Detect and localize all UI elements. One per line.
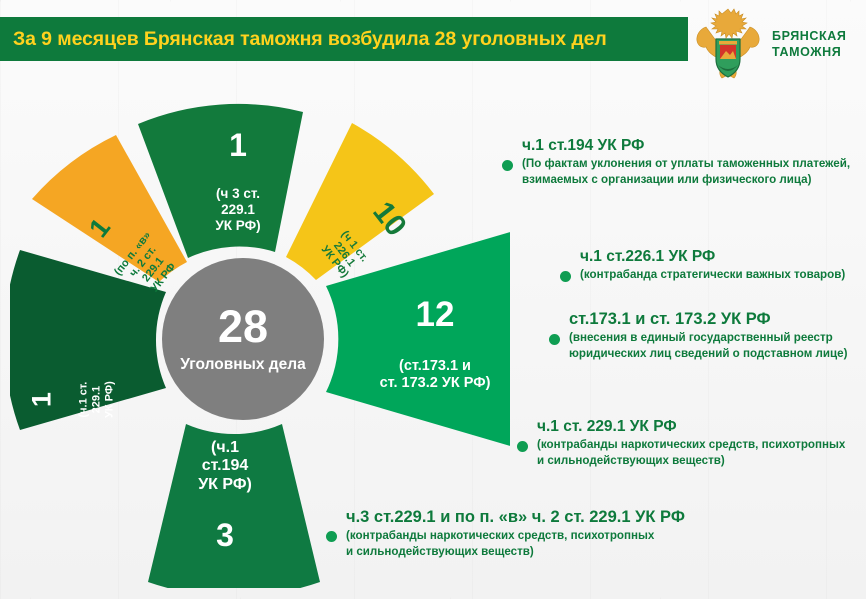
logo-text-block: БРЯНСКАЯ ТАМОЖНЯ: [772, 28, 847, 60]
center-value: 28: [218, 304, 268, 349]
legend-title: ч.1 ст.194 УК РФ: [522, 137, 850, 154]
logo-line-1: БРЯНСКАЯ: [772, 28, 847, 44]
wedge-right: [326, 228, 510, 450]
bullet-icon: [560, 271, 571, 282]
logo-line-2: ТАМОЖНЯ: [772, 44, 847, 60]
legend-item-229-3: ч.3 ст.229.1 и по п. «в» ч. 2 ст. 229.1 …: [326, 508, 685, 559]
bullet-icon: [549, 334, 560, 345]
page-title: За 9 месяцев Брянская таможня возбудила …: [0, 28, 607, 51]
legend-item-173: ст.173.1 и ст. 173.2 УК РФ (внесения в е…: [549, 310, 847, 361]
title-bar: За 9 месяцев Брянская таможня возбудила …: [0, 17, 688, 61]
legend-desc: (контрабанды наркотических средств, псих…: [537, 437, 845, 468]
double-headed-eagle-emblem: [690, 5, 766, 83]
legend-desc: (внесения в единый государственный реест…: [569, 330, 847, 361]
center-label: Уголовных дела: [180, 356, 305, 375]
legend-title: ч.1 ст. 229.1 УК РФ: [537, 418, 845, 435]
legend-desc: (контрабанда стратегически важных товаро…: [580, 267, 845, 283]
wedge-yellow: [286, 123, 434, 280]
legend-desc: (контрабанды наркотических средств, псих…: [346, 528, 685, 559]
wedge-bottom: [148, 424, 320, 588]
bullet-icon: [502, 160, 513, 171]
bullet-icon: [517, 441, 528, 452]
infographic-root: За 9 месяцев Брянская таможня возбудила …: [0, 0, 866, 599]
legend-title: ч.3 ст.229.1 и по п. «в» ч. 2 ст. 229.1 …: [346, 508, 685, 526]
legend-item-229-1: ч.1 ст. 229.1 УК РФ (контрабанды наркоти…: [517, 418, 845, 468]
legend-item-194: ч.1 ст.194 УК РФ (По фактам уклонения от…: [502, 137, 850, 187]
legend-item-226: ч.1 ст.226.1 УК РФ (контрабанда стратеги…: [560, 248, 845, 283]
wedge-left: [10, 250, 166, 430]
brand-logo: БРЯНСКАЯ ТАМОЖНЯ: [690, 4, 858, 84]
legend-desc: (По фактам уклонения от уплаты таможенны…: [522, 156, 850, 187]
bullet-icon: [326, 531, 337, 542]
legend-title: ст.173.1 и ст. 173.2 УК РФ: [569, 310, 847, 328]
center-total: 28 Уголовных дела: [162, 258, 324, 420]
legend-title: ч.1 ст.226.1 УК РФ: [580, 248, 845, 265]
